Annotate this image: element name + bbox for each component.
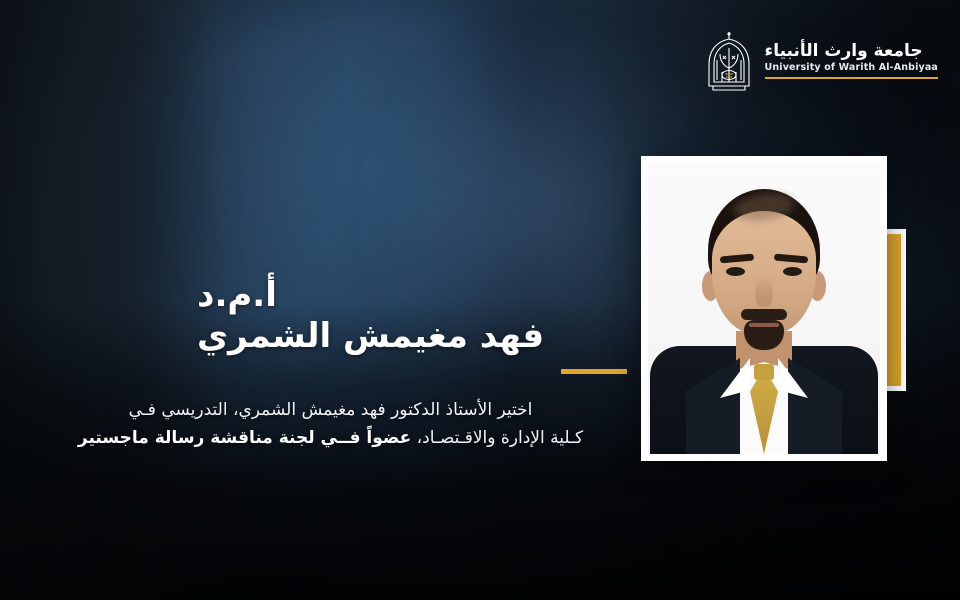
- person-full-name: فهد مغيمش الشمري: [197, 316, 627, 356]
- name-gold-underline: [561, 369, 627, 374]
- logo-text-group: جامعة وارث الأنبياء University of Warith…: [765, 41, 938, 81]
- logo-gold-rule: [765, 77, 938, 79]
- announcement-body: اختير الأستاذ الدكتور فهد مغيمش الشمري، …: [34, 397, 627, 452]
- announcement-line-1: اختير الأستاذ الدكتور فهد مغيمش الشمري، …: [34, 397, 627, 425]
- announcement-poster: جامعة وارث الأنبياء University of Warith…: [0, 0, 960, 600]
- university-emblem-icon: [703, 30, 755, 92]
- announcement-line-2-prefix: كـلية الإدارة والاقـتصـاد،: [411, 428, 583, 448]
- portrait-photo: [648, 163, 880, 454]
- academic-title: أ.م.د: [197, 276, 627, 315]
- name-block: أ.م.د فهد مغيمش الشمري: [197, 276, 627, 374]
- university-logo-lockup: جامعة وارث الأنبياء University of Warith…: [703, 30, 938, 92]
- announcement-line-2: كـلية الإدارة والاقـتصـاد، عضواً فــي لج…: [34, 425, 627, 453]
- announcement-line-2-emphasis: عضواً فــي لجنة مناقشة رسالة ماجستير: [78, 428, 411, 448]
- logo-english-name: University of Warith Al-Anbiyaa: [765, 62, 938, 75]
- portrait-photo-frame: [641, 156, 887, 461]
- logo-arabic-name: جامعة وارث الأنبياء: [765, 41, 923, 61]
